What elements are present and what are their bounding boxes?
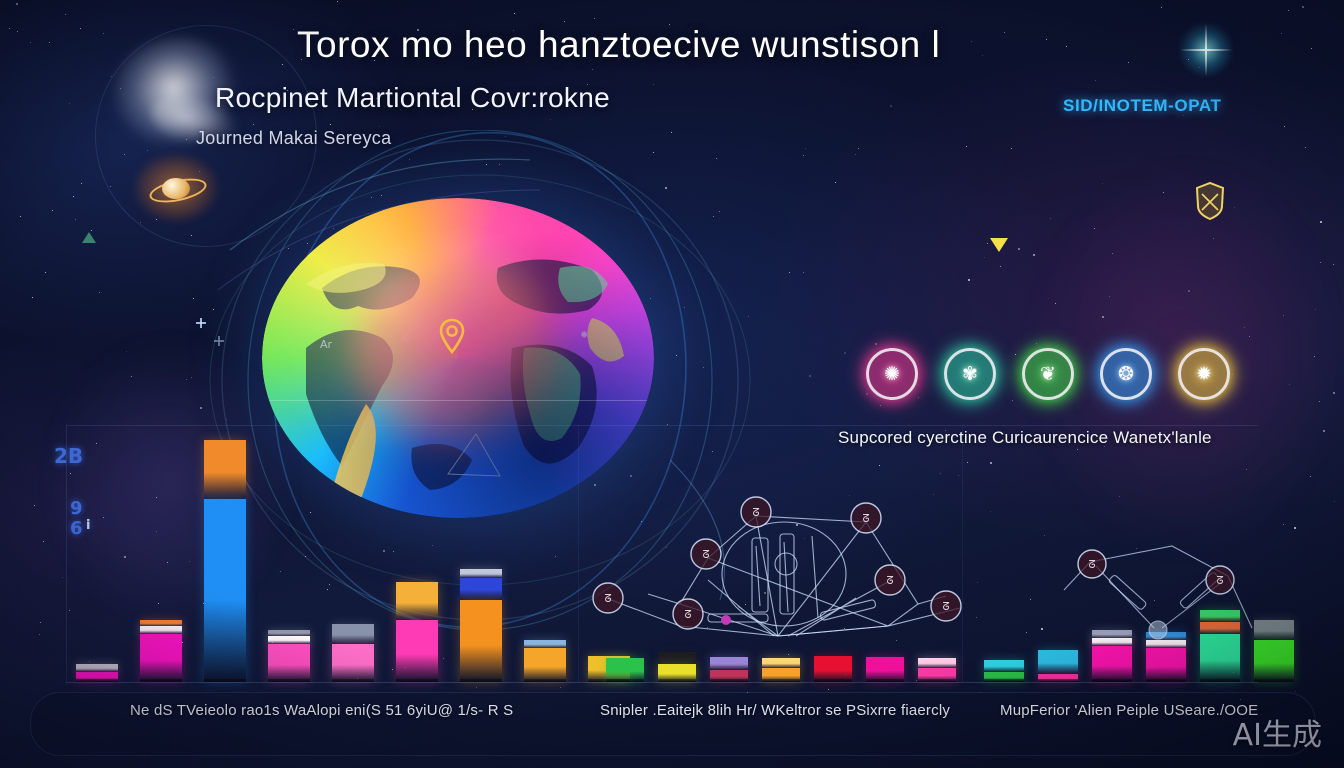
bar-segment <box>658 652 696 664</box>
icon-glyph: ✹ <box>1196 365 1212 384</box>
sparkle-icon <box>214 336 224 346</box>
bar-segment <box>76 664 118 672</box>
bar-segment <box>1146 648 1186 682</box>
icon-glyph: ❦ <box>1040 365 1056 384</box>
play-triangle-icon <box>990 238 1008 252</box>
bar-segment <box>524 648 566 682</box>
bar-segment <box>268 636 310 644</box>
bar-base-shadow <box>866 679 904 682</box>
bar-segment <box>710 657 748 670</box>
bar-column[interactable] <box>918 658 956 682</box>
bar-segment <box>268 644 310 682</box>
icon-glyph: ✾ <box>962 365 978 384</box>
bar-column[interactable] <box>710 657 748 682</box>
bar-segment <box>460 578 502 600</box>
bar-segment <box>762 658 800 668</box>
bar-base-shadow <box>762 679 800 682</box>
bar-segment <box>460 569 502 578</box>
bar-segment <box>918 658 956 668</box>
caption-right: MupFerior 'Alien Peiple USeare./OOE <box>1000 702 1258 719</box>
poster-canvas: Ar ⊙ ✹ ✺✾❦❂✹ Supcored cyerctine Curicaur… <box>0 0 1344 768</box>
bar-segment <box>1146 632 1186 640</box>
bar-column[interactable] <box>866 657 904 682</box>
bar-segment <box>140 634 182 682</box>
bar-column[interactable] <box>268 630 310 682</box>
bar-base-shadow <box>984 679 1024 682</box>
bar-segment <box>140 626 182 634</box>
bar-base-shadow <box>524 679 566 682</box>
bar-base-shadow <box>658 679 696 682</box>
spiral-shell-icon[interactable]: ✹ <box>1178 348 1230 400</box>
bar-base-shadow <box>1254 679 1294 682</box>
bar-column[interactable] <box>762 658 800 682</box>
bar-segment <box>332 644 374 682</box>
bar-chart-right <box>984 610 1308 682</box>
caption-middle: Snipler .Eaitejk 8lih Hr/ WKeltror se PS… <box>600 702 950 719</box>
bar-base-shadow <box>76 679 118 682</box>
bar-segment <box>984 660 1024 672</box>
bar-column[interactable] <box>204 440 246 682</box>
caption-left: Ne dS TVeieolo rao1s WaAlopi eni(S 51 6y… <box>130 702 513 719</box>
bar-segment <box>1038 650 1078 674</box>
leaf-swirl-icon[interactable]: ❦ <box>1022 348 1074 400</box>
bar-segment <box>1200 622 1240 634</box>
bar-column[interactable] <box>1200 610 1240 682</box>
location-pin-icon <box>438 318 466 354</box>
chart-baseline-axis <box>66 682 1258 683</box>
bar-base-shadow <box>710 679 748 682</box>
bar-base-shadow <box>1200 679 1240 682</box>
bar-chart-left <box>76 440 652 682</box>
bar-base-shadow <box>1038 679 1078 682</box>
svg-text:ᘔ: ᘔ <box>862 512 869 525</box>
bar-column[interactable] <box>76 664 118 682</box>
page-title: Torox mo heo hanztoecive wunstison l <box>297 24 940 66</box>
page-tagline: Journed Makai Sereyca <box>196 128 391 149</box>
svg-text:ᘔ: ᘔ <box>942 600 949 613</box>
subheading-text: Supcored cyerctine Curicaurencice Wanetx… <box>838 428 1212 448</box>
bar-column[interactable] <box>1254 620 1294 682</box>
bar-column[interactable] <box>396 582 438 682</box>
ai-watermark: AI生成 <box>1233 710 1322 754</box>
svg-text:ᘔ: ᘔ <box>1216 574 1223 587</box>
bar-column[interactable] <box>1146 632 1186 682</box>
bar-column[interactable] <box>814 656 852 682</box>
bar-column[interactable] <box>984 660 1024 682</box>
bar-segment <box>396 582 438 620</box>
svg-text:ᘔ: ᘔ <box>886 574 893 587</box>
bar-segment <box>204 440 246 499</box>
bar-segment <box>460 600 502 682</box>
cyan-badge-label: SID/INOTEM-OPAT <box>1063 96 1222 116</box>
bar-segment <box>1254 640 1294 682</box>
bar-segment <box>1092 630 1132 638</box>
bar-base-shadow <box>1092 679 1132 682</box>
bar-column[interactable] <box>1038 650 1078 682</box>
svg-text:ᘔ: ᘔ <box>752 506 759 519</box>
svg-text:ᘔ: ᘔ <box>702 548 709 561</box>
bar-column[interactable] <box>658 652 696 682</box>
bar-base-shadow <box>204 679 246 682</box>
svg-text:ᘔ: ᘔ <box>684 608 691 621</box>
chart-divider <box>962 425 963 683</box>
bar-base-shadow <box>332 679 374 682</box>
icon-glyph: ✺ <box>884 365 900 384</box>
feature-icon-row[interactable]: ✺✾❦❂✹ <box>866 348 1230 400</box>
bacteria-icon[interactable]: ✺ <box>866 348 918 400</box>
cell-cluster-icon[interactable]: ❂ <box>1100 348 1152 400</box>
icon-glyph: ❂ <box>1118 365 1134 384</box>
bar-segment <box>396 620 438 682</box>
bar-column[interactable] <box>140 620 182 682</box>
bar-segment <box>204 499 246 682</box>
svg-text:ᘔ: ᘔ <box>1088 558 1095 571</box>
bar-chart-middle <box>606 652 970 682</box>
bar-base-shadow <box>606 679 644 682</box>
bar-base-shadow <box>268 679 310 682</box>
ringed-planet-icon <box>148 168 204 208</box>
bar-base-shadow <box>814 679 852 682</box>
bright-star-icon <box>1178 22 1234 78</box>
bar-column[interactable] <box>524 640 566 682</box>
bar-segment <box>524 640 566 648</box>
molecule-cluster-icon[interactable]: ✾ <box>944 348 996 400</box>
bar-base-shadow <box>1146 679 1186 682</box>
bar-segment <box>1200 634 1240 682</box>
bar-segment <box>1200 610 1240 622</box>
bar-segment <box>1254 620 1294 640</box>
bar-column[interactable] <box>332 624 374 682</box>
bar-column[interactable] <box>1092 630 1132 682</box>
bar-segment <box>332 624 374 644</box>
bar-column[interactable] <box>606 658 644 682</box>
page-subtitle: Rocpinet Martiontal Covr:rokne <box>215 82 610 114</box>
bar-column[interactable] <box>460 569 502 682</box>
bar-segment <box>1092 638 1132 646</box>
chart-top-rule <box>66 425 1258 426</box>
bar-base-shadow <box>140 679 182 682</box>
bar-segment <box>1092 646 1132 682</box>
bar-base-shadow <box>396 679 438 682</box>
shield-badge-icon <box>1192 180 1228 222</box>
triangle-marker-icon <box>82 232 96 243</box>
bar-base-shadow <box>918 679 956 682</box>
sparkle-icon <box>196 318 206 328</box>
bar-base-shadow <box>460 679 502 682</box>
bar-segment <box>1146 640 1186 648</box>
